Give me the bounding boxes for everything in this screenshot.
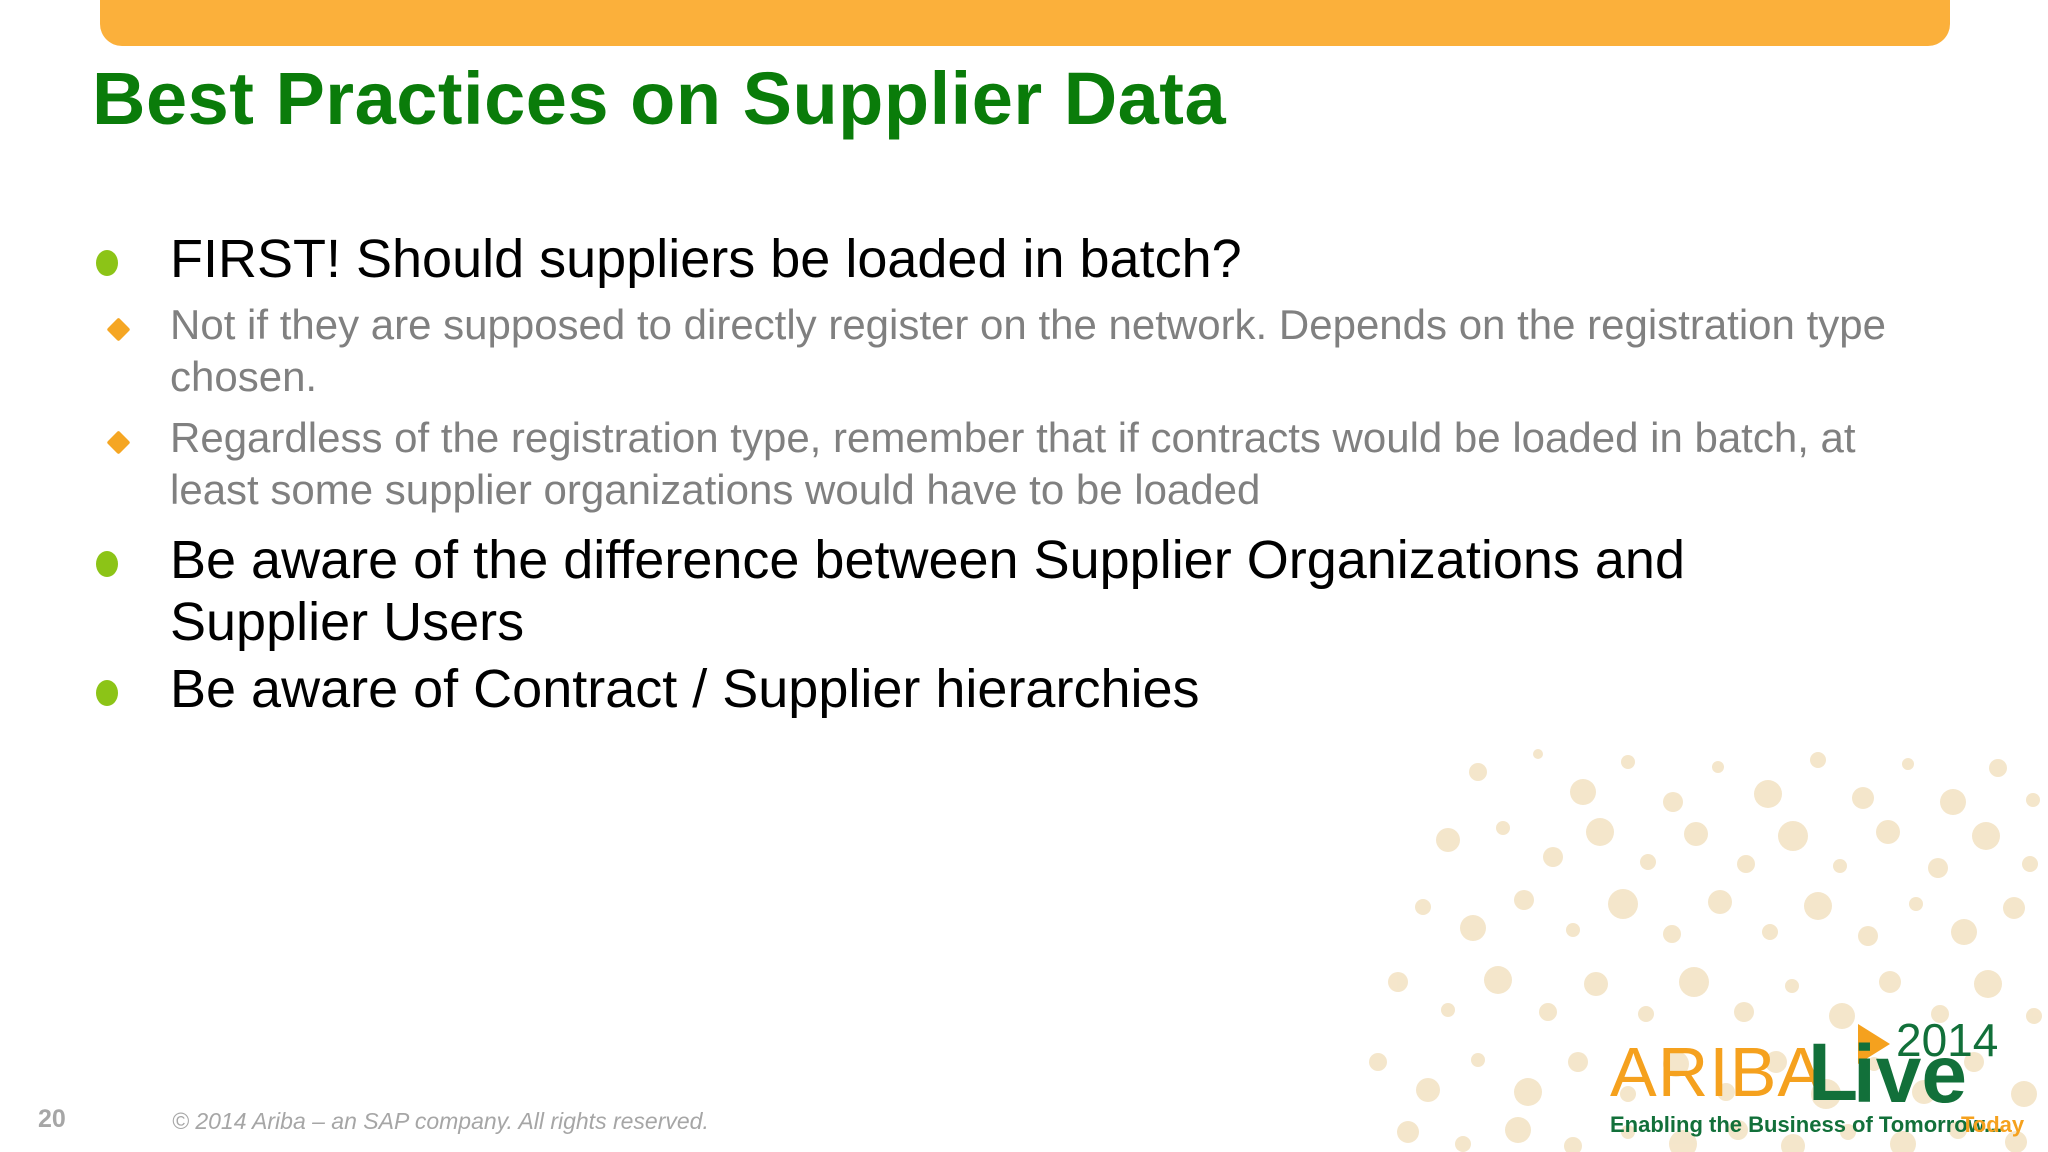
ariba-live-logo: ARIBA L ive 2014 Enabling the Business o… [1608, 1014, 2038, 1144]
bullet-dot-icon [96, 680, 122, 706]
page-title: Best Practices on Supplier Data [92, 62, 1226, 136]
bullet-item: Be aware of the difference between Suppl… [0, 529, 2048, 654]
sub-bullet-item: Regardless of the registration type, rem… [110, 412, 1898, 517]
sub-bullet-item: Not if they are supposed to directly reg… [110, 299, 1898, 404]
slide-body: FIRST! Should suppliers be loaded in bat… [0, 228, 2048, 725]
logo-l-text: L [1808, 1027, 1858, 1118]
bullet-text: Be aware of the difference between Suppl… [170, 529, 1898, 654]
logo-year-text: 2014 [1896, 1014, 1998, 1066]
logo-ariba-text: ARIBA [1610, 1033, 1825, 1111]
bullet-dot-icon [96, 250, 122, 276]
bullet-text: FIRST! Should suppliers be loaded in bat… [170, 228, 1898, 291]
bullet-text: Be aware of Contract / Supplier hierarch… [170, 658, 1898, 721]
bullet-item: FIRST! Should suppliers be loaded in bat… [0, 228, 2048, 291]
sub-bullet-list: Not if they are supposed to directly reg… [0, 299, 2048, 517]
bullet-dot-icon [96, 551, 122, 577]
bullet-diamond-icon [110, 321, 128, 338]
bullet-diamond-icon [110, 434, 128, 451]
sub-bullet-text: Regardless of the registration type, rem… [170, 412, 1898, 517]
bullet-item: Be aware of Contract / Supplier hierarch… [0, 658, 2048, 721]
top-accent-bar [100, 0, 1950, 46]
page-number: 20 [38, 1105, 66, 1134]
logo-tagline-accent: Today [1961, 1112, 2025, 1137]
sub-bullet-text: Not if they are supposed to directly reg… [170, 299, 1898, 404]
presentation-slide: Best Practices on Supplier Data FIRST! S… [0, 0, 2048, 1152]
copyright-notice: © 2014 Ariba – an SAP company. All right… [172, 1108, 709, 1135]
logo-tagline-main: Enabling the Business of Tomorrow... [1610, 1112, 2002, 1137]
